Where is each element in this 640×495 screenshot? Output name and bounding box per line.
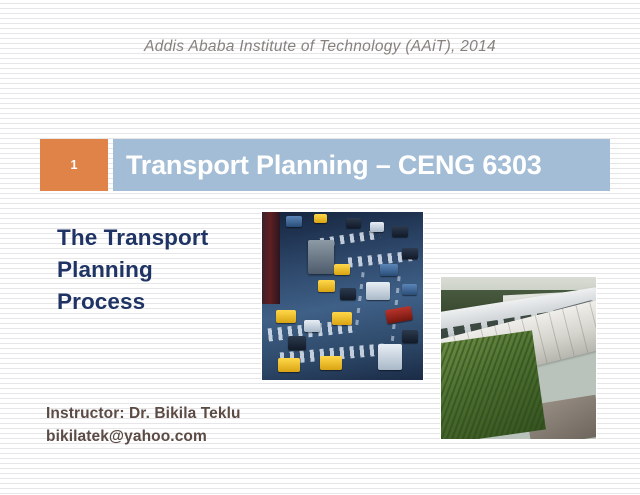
body-heading-line-2: Planning [57,254,262,286]
slide-number-box: 1 [40,139,108,191]
instructor-email-text: bikilatek@yahoo.com [46,425,241,448]
presentation-slide: Addis Ababa Institute of Technology (AAi… [0,0,640,495]
slide-number-label: 1 [71,159,78,172]
grass-embankment [441,330,545,439]
vehicle [286,216,302,227]
bus-vehicle [308,240,334,274]
taxi-vehicle [314,214,327,223]
title-band: Transport Planning – CENG 6303 [113,139,610,191]
vehicle [402,330,418,343]
vehicle [340,288,356,300]
vehicle [288,336,306,350]
vehicle [402,248,418,259]
taxi-vehicle [334,264,350,275]
taxi-vehicle [318,280,335,292]
vehicle [392,226,408,237]
traffic-congestion-photo [261,211,424,381]
slide-title-bar: 1 Transport Planning – CENG 6303 [40,139,610,191]
slide-header: Addis Ababa Institute of Technology (AAi… [0,38,640,56]
vehicle [378,344,402,370]
vehicle [402,284,417,295]
building-edge [262,212,280,304]
vehicle [304,320,320,332]
institution-header-text: Addis Ababa Institute of Technology (AAi… [144,38,496,55]
vehicle [380,264,398,276]
taxi-vehicle [332,312,352,325]
body-heading-line-3: Process [57,286,262,318]
page-title: Transport Planning – CENG 6303 [126,152,542,179]
vehicle [346,218,361,228]
vehicle [366,282,390,300]
body-heading-line-1: The Transport [57,222,262,254]
body-heading: The Transport Planning Process [57,222,262,318]
metro-train-photo [440,276,597,440]
slide-footer: Instructor: Dr. Bikila Teklu bikilatek@y… [46,402,241,448]
instructor-name-text: Instructor: Dr. Bikila Teklu [46,402,241,425]
vehicle [370,222,384,232]
train-photo-content [441,277,596,439]
taxi-vehicle [278,358,300,372]
traffic-photo-content [262,212,423,380]
taxi-vehicle [276,310,296,323]
taxi-vehicle [320,356,342,370]
